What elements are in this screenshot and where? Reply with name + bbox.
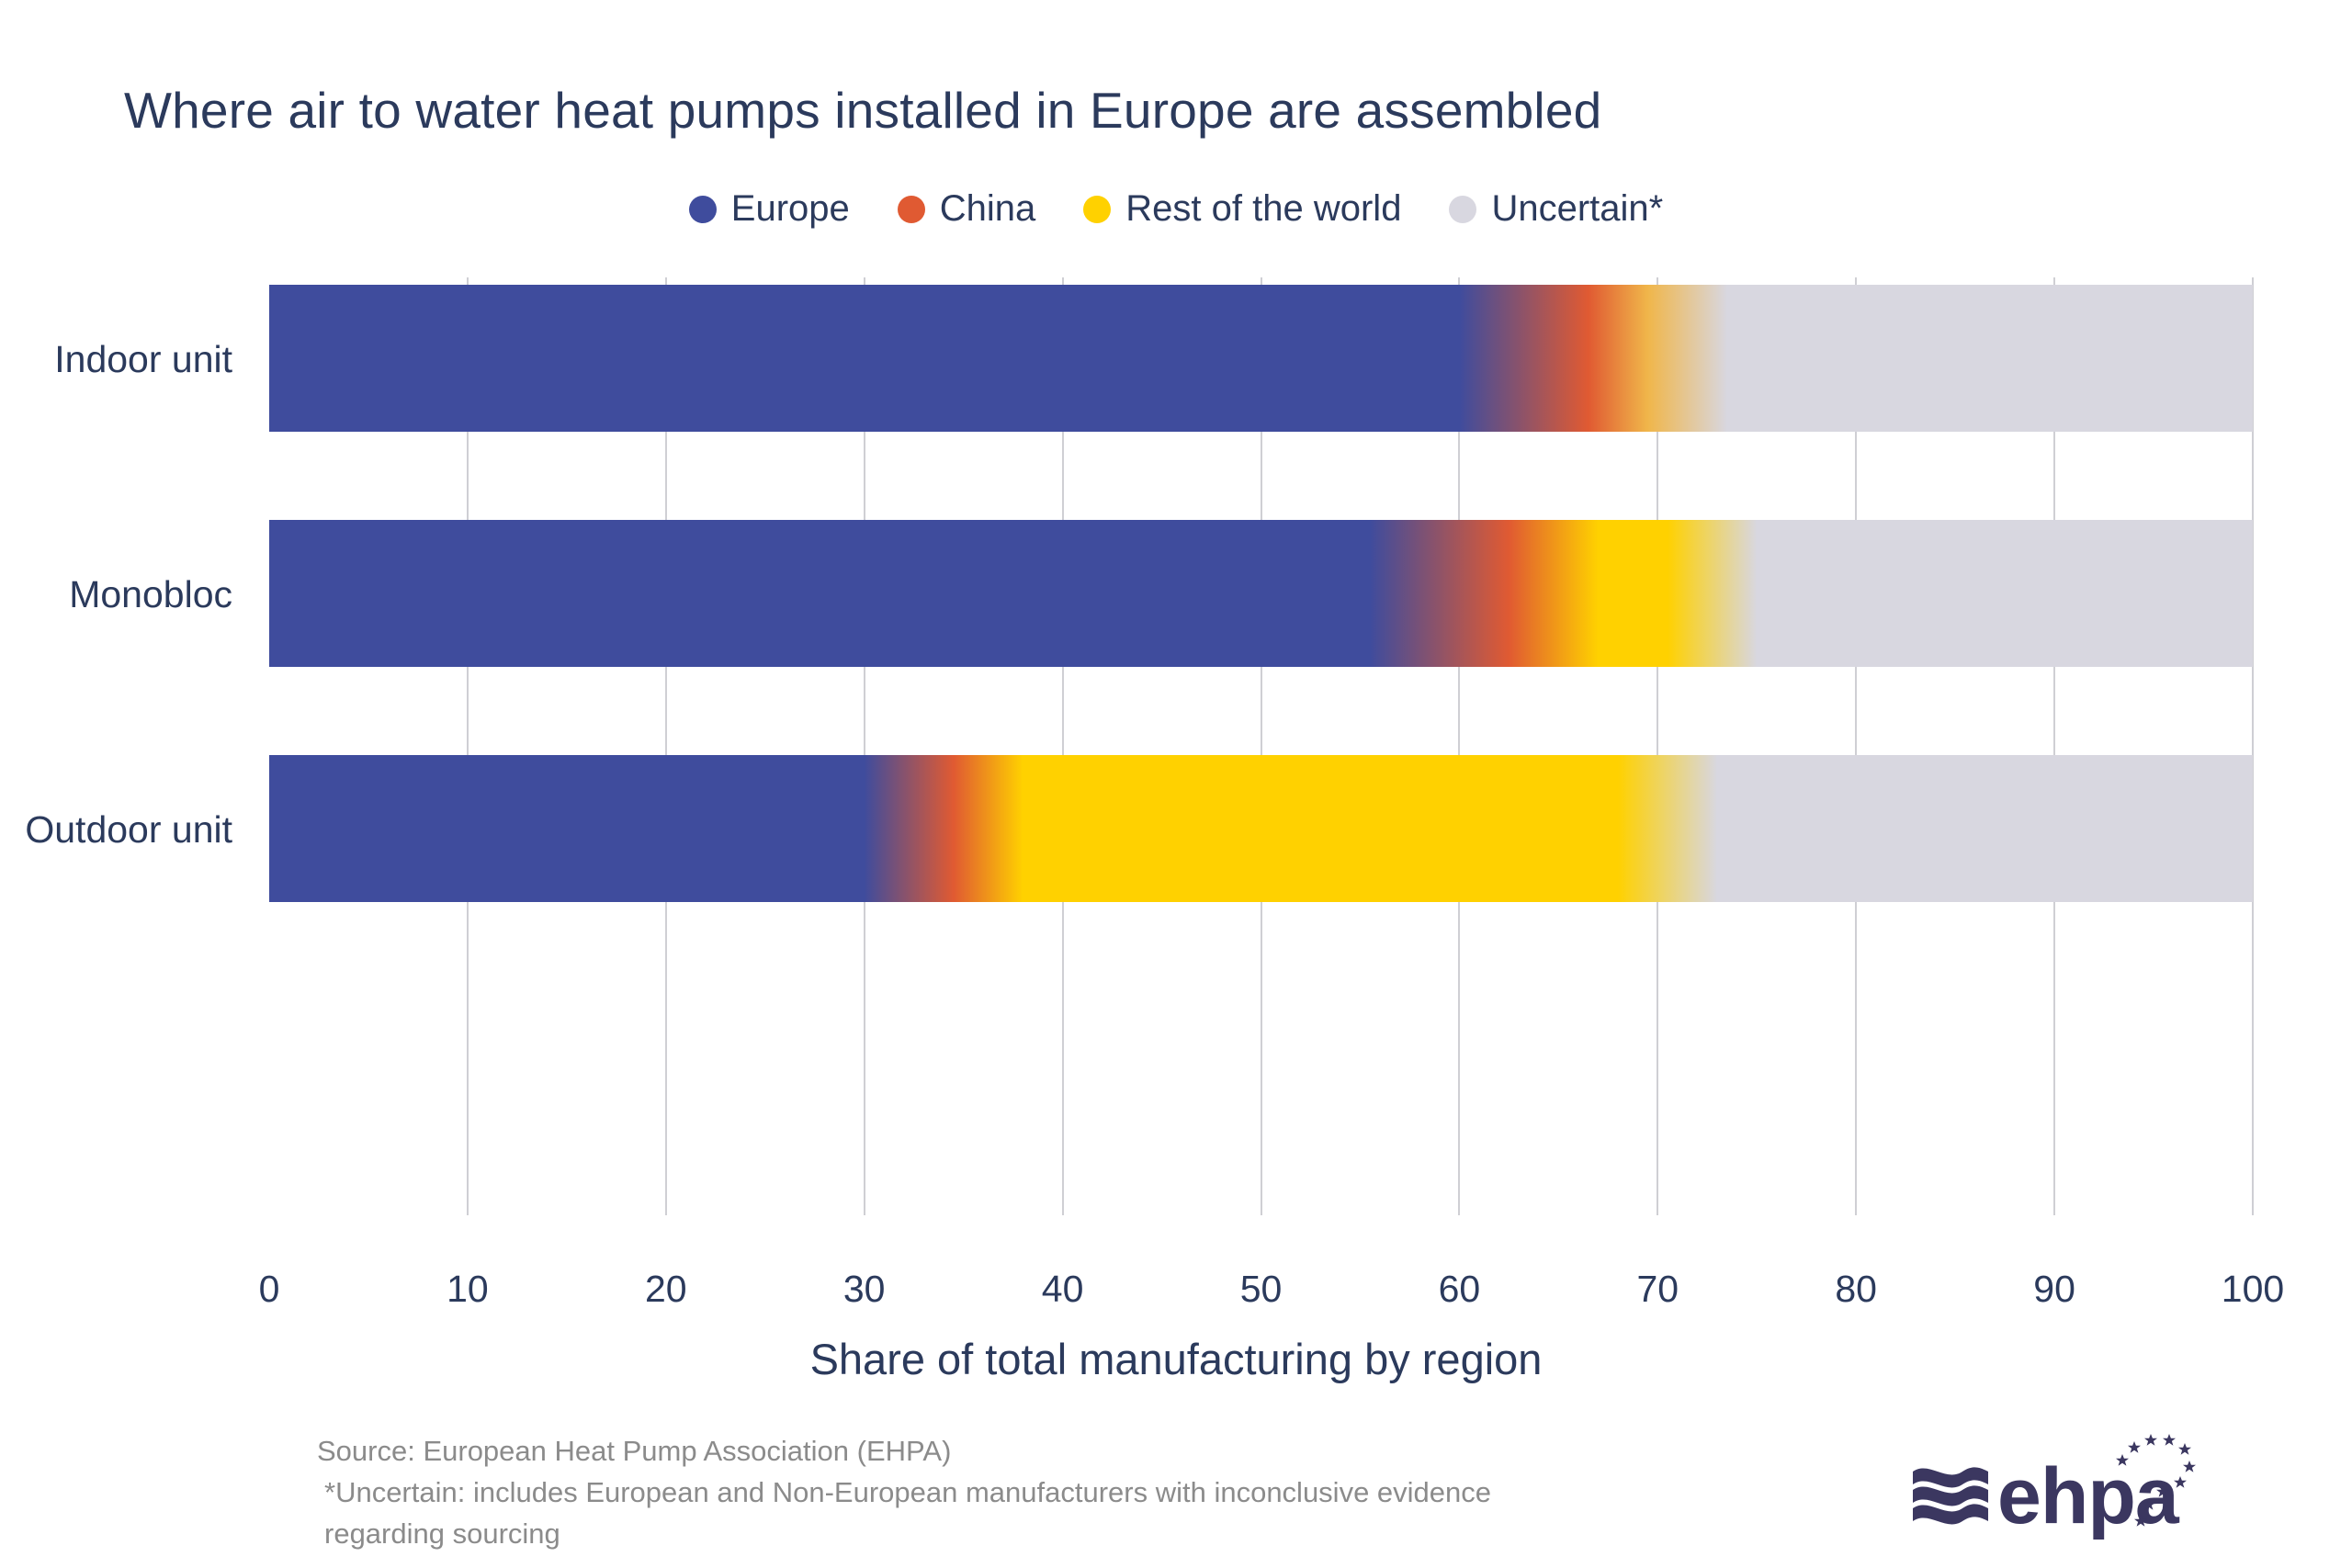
bar-row-monobloc[interactable] [269, 520, 2253, 667]
x-axis-ticks: 0102030405060708090100 [269, 1268, 2253, 1323]
legend-label: Rest of the world [1125, 188, 1401, 230]
legend-label: Uncertain* [1491, 188, 1663, 230]
x-axis-tick-label: 100 [2222, 1268, 2284, 1311]
x-axis-tick-label: 0 [259, 1268, 280, 1311]
stacked-bar [269, 755, 2253, 902]
uncertain-note-line2: regarding sourcing [317, 1514, 1491, 1555]
legend-item-uncertain[interactable]: Uncertain* [1449, 188, 1663, 230]
bar-row-outdoor-unit[interactable] [269, 755, 2253, 902]
wave-icon [1913, 1467, 1988, 1524]
source-text: Source: European Heat Pump Association (… [317, 1431, 1491, 1472]
y-axis-label-indoor-unit: Indoor unit [0, 338, 232, 381]
legend-item-rest-of-the-world[interactable]: Rest of the world [1083, 188, 1401, 230]
legend-swatch-icon [1083, 196, 1111, 223]
x-axis-tick-label: 60 [1439, 1268, 1481, 1311]
legend-item-europe[interactable]: Europe [689, 188, 850, 230]
uncertain-note-line1: *Uncertain: includes European and Non-Eu… [317, 1472, 1491, 1514]
x-axis-tick-label: 70 [1636, 1268, 1679, 1311]
svg-text:ehpa: ehpa [1997, 1452, 2180, 1540]
footer-notes: Source: European Heat Pump Association (… [317, 1431, 1491, 1555]
ehpa-logo: ehpa [1909, 1433, 2212, 1543]
x-axis-title: Share of total manufacturing by region [0, 1334, 2352, 1384]
x-axis-tick-label: 80 [1835, 1268, 1877, 1311]
legend-label: Europe [731, 188, 850, 230]
chart-legend: Europe China Rest of the world Uncertain… [0, 188, 2352, 230]
x-axis-tick-label: 40 [1042, 1268, 1084, 1311]
x-axis-tick-label: 20 [645, 1268, 687, 1311]
x-axis-tick-label: 50 [1240, 1268, 1283, 1311]
x-axis-tick-label: 10 [447, 1268, 489, 1311]
legend-swatch-icon [1449, 196, 1476, 223]
plot-area [269, 285, 2253, 1215]
page-title: Where air to water heat pumps installed … [124, 81, 1601, 140]
y-axis-label-outdoor-unit: Outdoor unit [0, 808, 232, 852]
y-axis-label-monobloc: Monobloc [0, 573, 232, 616]
x-axis-tick-label: 90 [2033, 1268, 2075, 1311]
legend-swatch-icon [689, 196, 717, 223]
bar-row-indoor-unit[interactable] [269, 285, 2253, 432]
x-axis-tick-label: 30 [843, 1268, 886, 1311]
stacked-bar [269, 520, 2253, 667]
stacked-bar [269, 285, 2253, 432]
legend-swatch-icon [898, 196, 925, 223]
legend-label: China [940, 188, 1036, 230]
legend-item-china[interactable]: China [898, 188, 1036, 230]
